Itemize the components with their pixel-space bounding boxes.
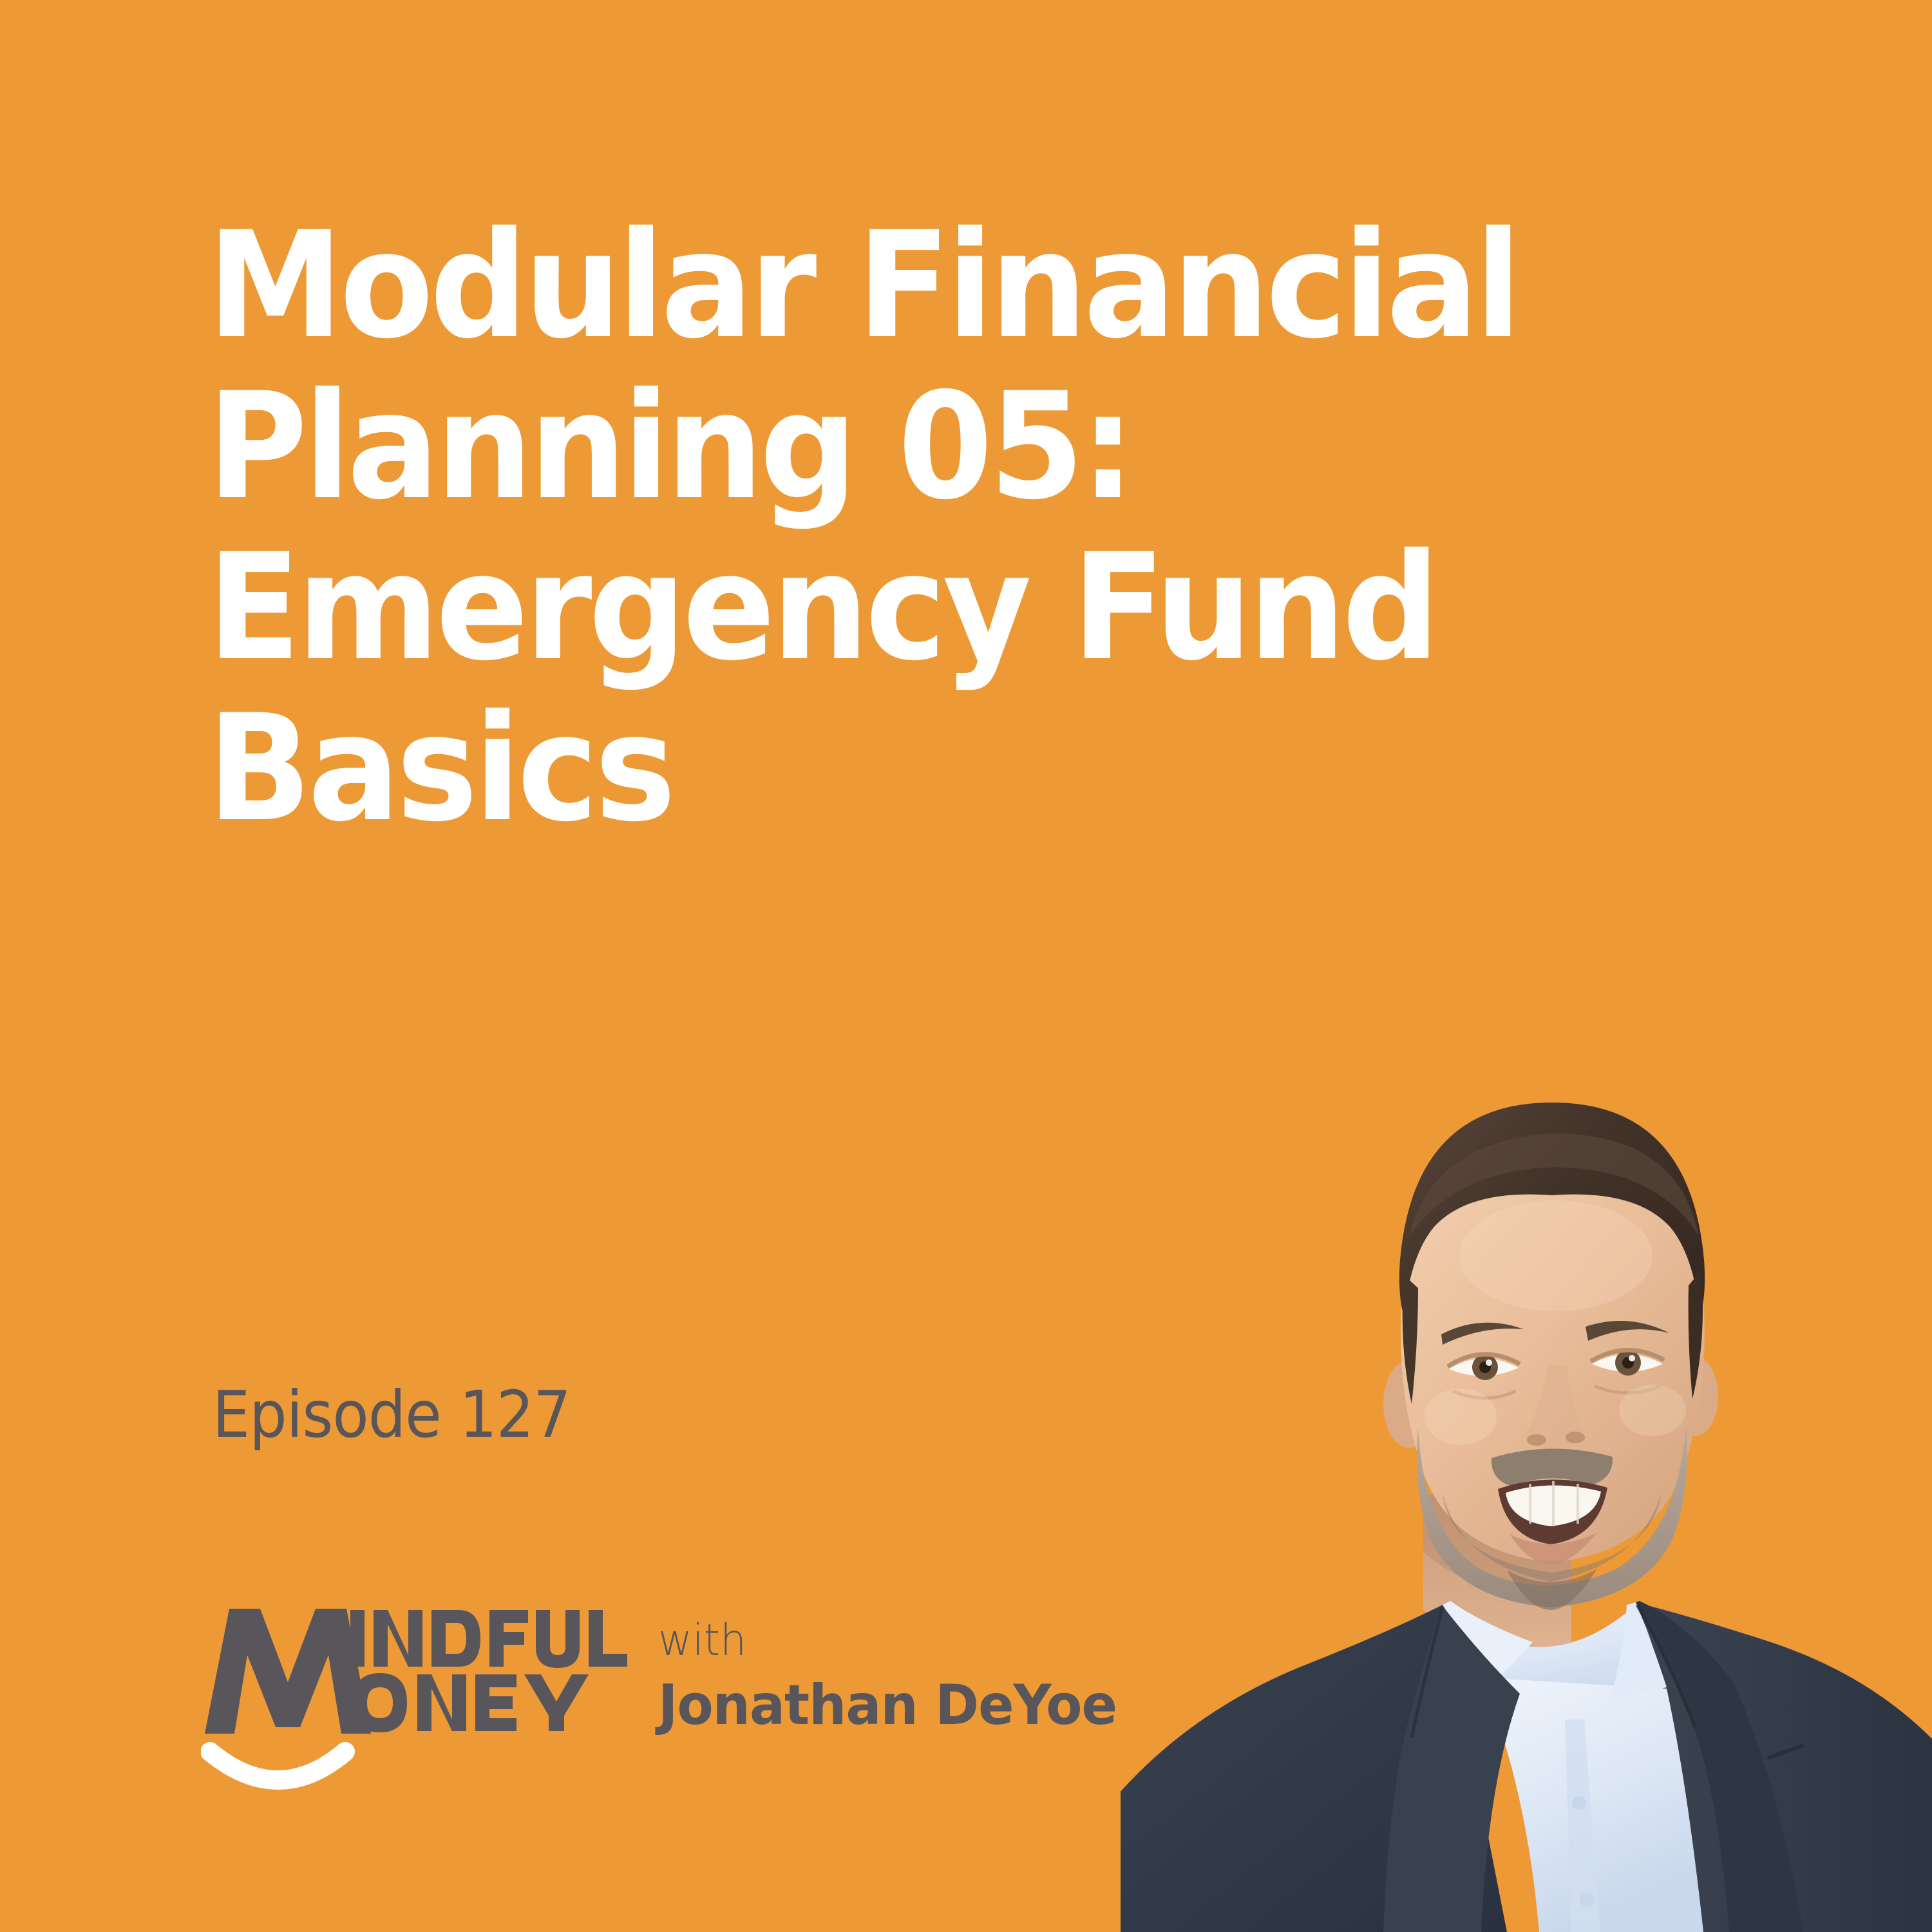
logo-money-text bbox=[353, 1673, 589, 1732]
episode-label: Episode 127 bbox=[213, 1377, 571, 1452]
logo-m-letter bbox=[205, 1609, 371, 1734]
smile-curve-icon bbox=[210, 1752, 345, 1780]
with-label: with bbox=[658, 1618, 1117, 1664]
host-name: Jonathan DeYoe bbox=[658, 1674, 1117, 1736]
podcast-cover-art: Modular Financial Planning 05: Emergency… bbox=[0, 0, 1932, 1932]
page-title: Modular Financial Planning 05: Emergency… bbox=[207, 205, 1585, 849]
logo-indfull-text bbox=[350, 1610, 627, 1668]
mindful-money-logo bbox=[201, 1605, 639, 1798]
host-block: with Jonathan DeYoe bbox=[658, 1618, 1141, 1736]
host-portrait bbox=[1121, 1043, 1932, 1932]
